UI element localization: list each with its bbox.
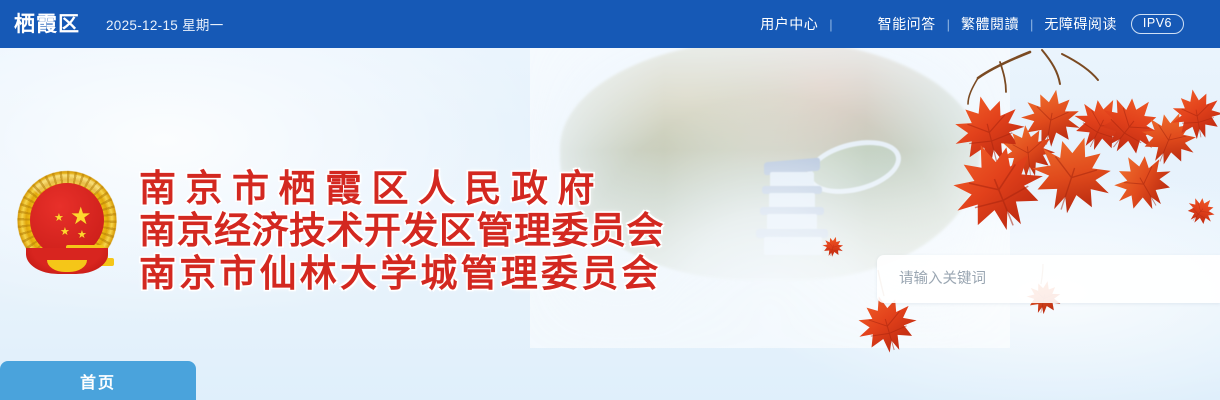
- top-bar: 栖霞区 2025-12-15 星期一 用户中心 | 智能问答 | 繁體閱讀 | …: [0, 0, 1220, 48]
- top-bar-nav-group: 用户中心 | 智能问答 | 繁體閱讀 | 无障碍阅读 IPV6: [760, 0, 1184, 48]
- page-root: 栖霞区 2025-12-15 星期一 用户中心 | 智能问答 | 繁體閱讀 | …: [0, 0, 1220, 400]
- top-bar-left-group: 栖霞区 2025-12-15 星期一: [0, 0, 224, 48]
- search-input[interactable]: [897, 270, 1191, 288]
- ipv6-badge[interactable]: IPV6: [1131, 14, 1184, 34]
- main-navigation-bar: 首页: [0, 361, 1220, 400]
- emblem-red-disc: ★ ★ ★ ★: [30, 183, 104, 257]
- emblem-star-large: ★: [70, 205, 92, 229]
- emblem-star-1: ★: [54, 213, 64, 224]
- maple-leaf: [1167, 85, 1220, 143]
- nav-separator-3: |: [1030, 17, 1033, 32]
- top-nav-smart-qa[interactable]: 智能问答: [878, 14, 936, 34]
- top-nav-traditional-chinese[interactable]: 繁體閱讀: [961, 14, 1019, 34]
- title-line-2: 南京经济技术开发区管理委员会: [139, 211, 664, 251]
- maple-leaf: [1134, 103, 1206, 173]
- title-line-3: 南京市仙林大学城管理委员会: [139, 254, 664, 294]
- search-box[interactable]: [877, 255, 1220, 303]
- nav-item-home-label: 首页: [80, 369, 116, 393]
- top-nav-accessibility[interactable]: 无障碍阅读: [1044, 14, 1117, 34]
- top-nav-user-center[interactable]: 用户中心: [760, 14, 818, 34]
- emblem-star-3: ★: [77, 230, 87, 241]
- emblem-red-drape: [26, 248, 108, 274]
- nav-separator-2: |: [947, 17, 950, 32]
- nav-separator-1: |: [829, 17, 832, 32]
- current-date-text: 2025-12-15 星期一: [106, 14, 224, 34]
- title-line-1: 南京市栖霞区人民政府: [139, 169, 664, 209]
- maple-leaf: [1088, 83, 1173, 167]
- maple-leaf: [1017, 85, 1086, 152]
- nav-item-home[interactable]: 首页: [0, 361, 196, 400]
- site-logo[interactable]: 栖霞区: [14, 14, 80, 35]
- emblem-star-2: ★: [60, 227, 70, 238]
- banner: ★ ★ ★ ★ 南京市栖霞区人民政府 南京经济技术开发区管理委员会 南京市仙林大…: [0, 48, 1220, 400]
- maple-leaf: [1065, 88, 1138, 160]
- national-emblem-icon: ★ ★ ★ ★: [12, 166, 122, 278]
- government-title-block: 南京市栖霞区人民政府 南京经济技术开发区管理委员会 南京市仙林大学城管理委员会: [139, 169, 664, 294]
